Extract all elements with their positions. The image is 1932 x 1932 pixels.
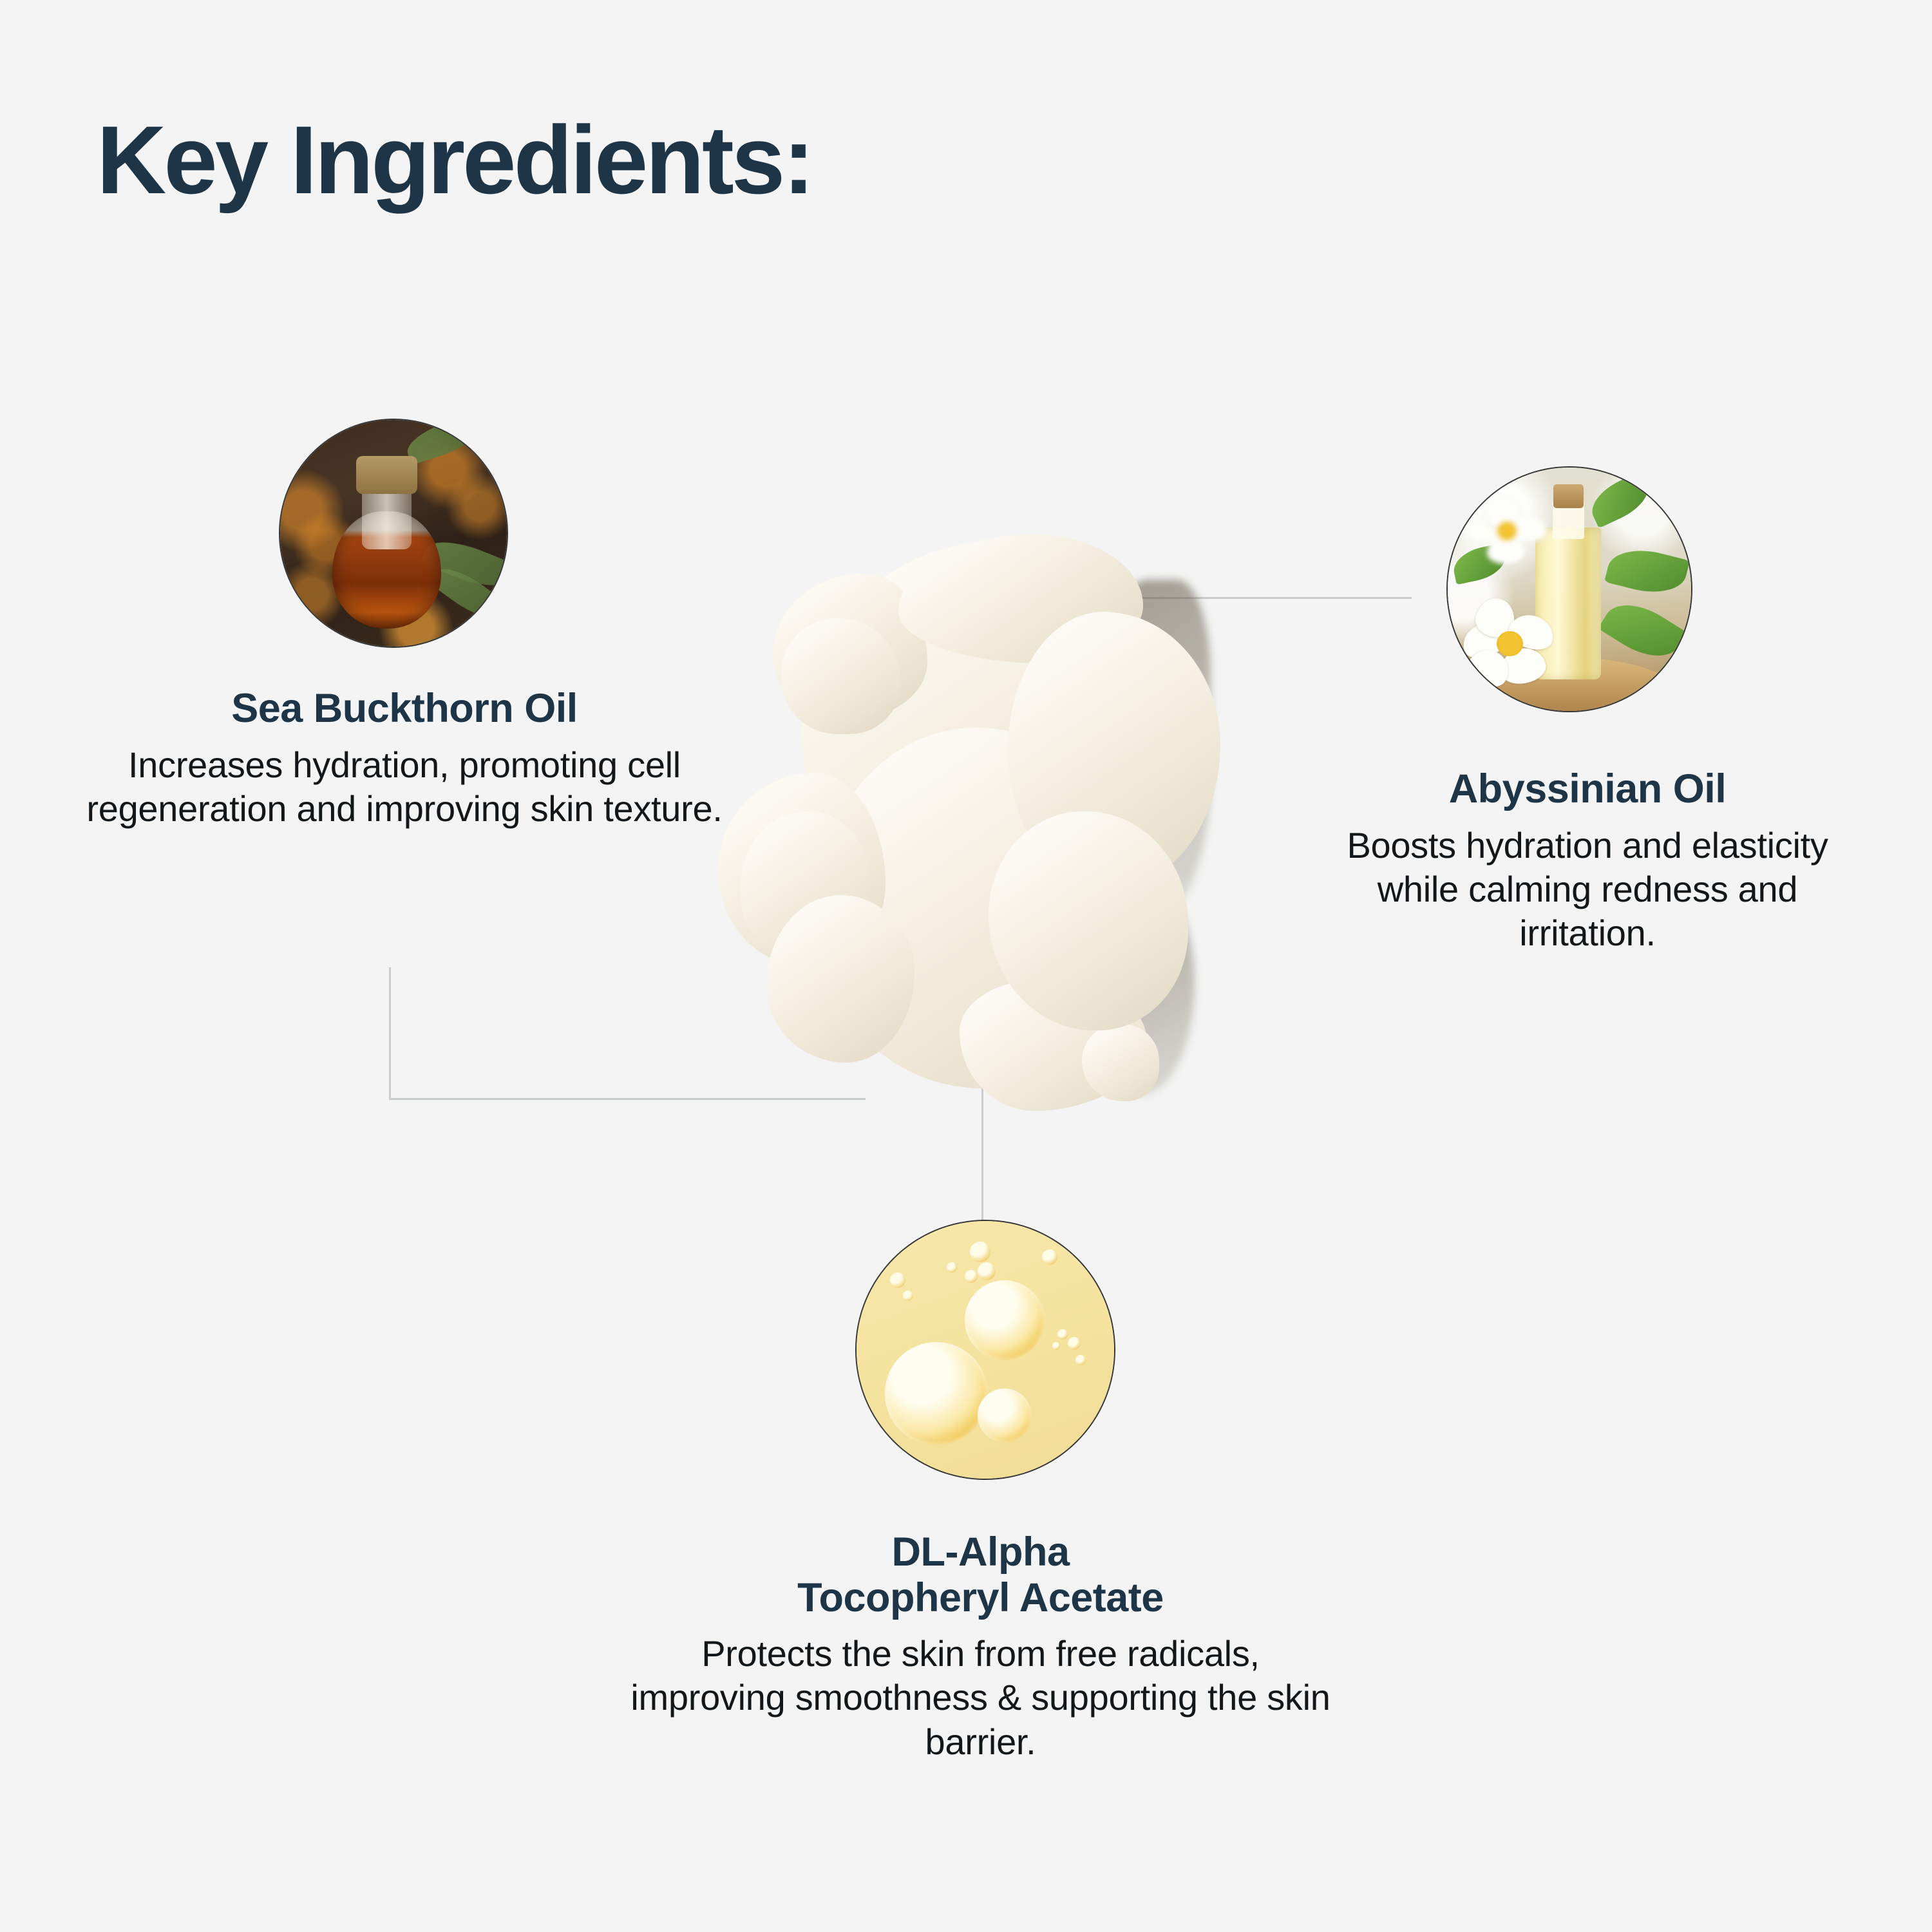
ingredient-card-dl-alpha-tocopheryl-acetate: DL-Alpha Tocopheryl Acetate Protects the… — [621, 1529, 1340, 1764]
ingredient-title-dl-alpha-line-1: DL-Alpha — [621, 1529, 1340, 1575]
ingredient-card-abyssinian-oil: Abyssinian Oil Boosts hydration and elas… — [1311, 766, 1864, 955]
ingredient-title-dl-alpha-line-2: Tocopheryl Acetate — [621, 1575, 1340, 1621]
ingredient-description-dl-alpha: Protects the skin from free radicals, im… — [621, 1632, 1340, 1764]
ingredient-title-abyssinian-oil: Abyssinian Oil — [1311, 766, 1864, 812]
page-title: Key Ingredients: — [97, 109, 812, 211]
ingredient-title-sea-buckthorn-oil: Sea Buckthorn Oil — [82, 686, 726, 732]
sea-buckthorn-oil-image — [280, 420, 507, 647]
golden-oil-bubbles-image — [857, 1221, 1114, 1479]
ingredient-description-sea-buckthorn-oil: Increases hydration, promoting cell rege… — [82, 743, 726, 831]
ingredient-card-sea-buckthorn-oil: Sea Buckthorn Oil Increases hydration, p… — [82, 686, 726, 831]
connector-segment-vertical — [389, 967, 391, 1099]
abyssinian-oil-image — [1448, 468, 1691, 711]
cream-swatch-image — [705, 535, 1233, 1114]
ingredient-description-abyssinian-oil: Boosts hydration and elasticity while ca… — [1311, 824, 1864, 956]
key-ingredients-infographic: Key Ingredients: — [0, 0, 1932, 1932]
